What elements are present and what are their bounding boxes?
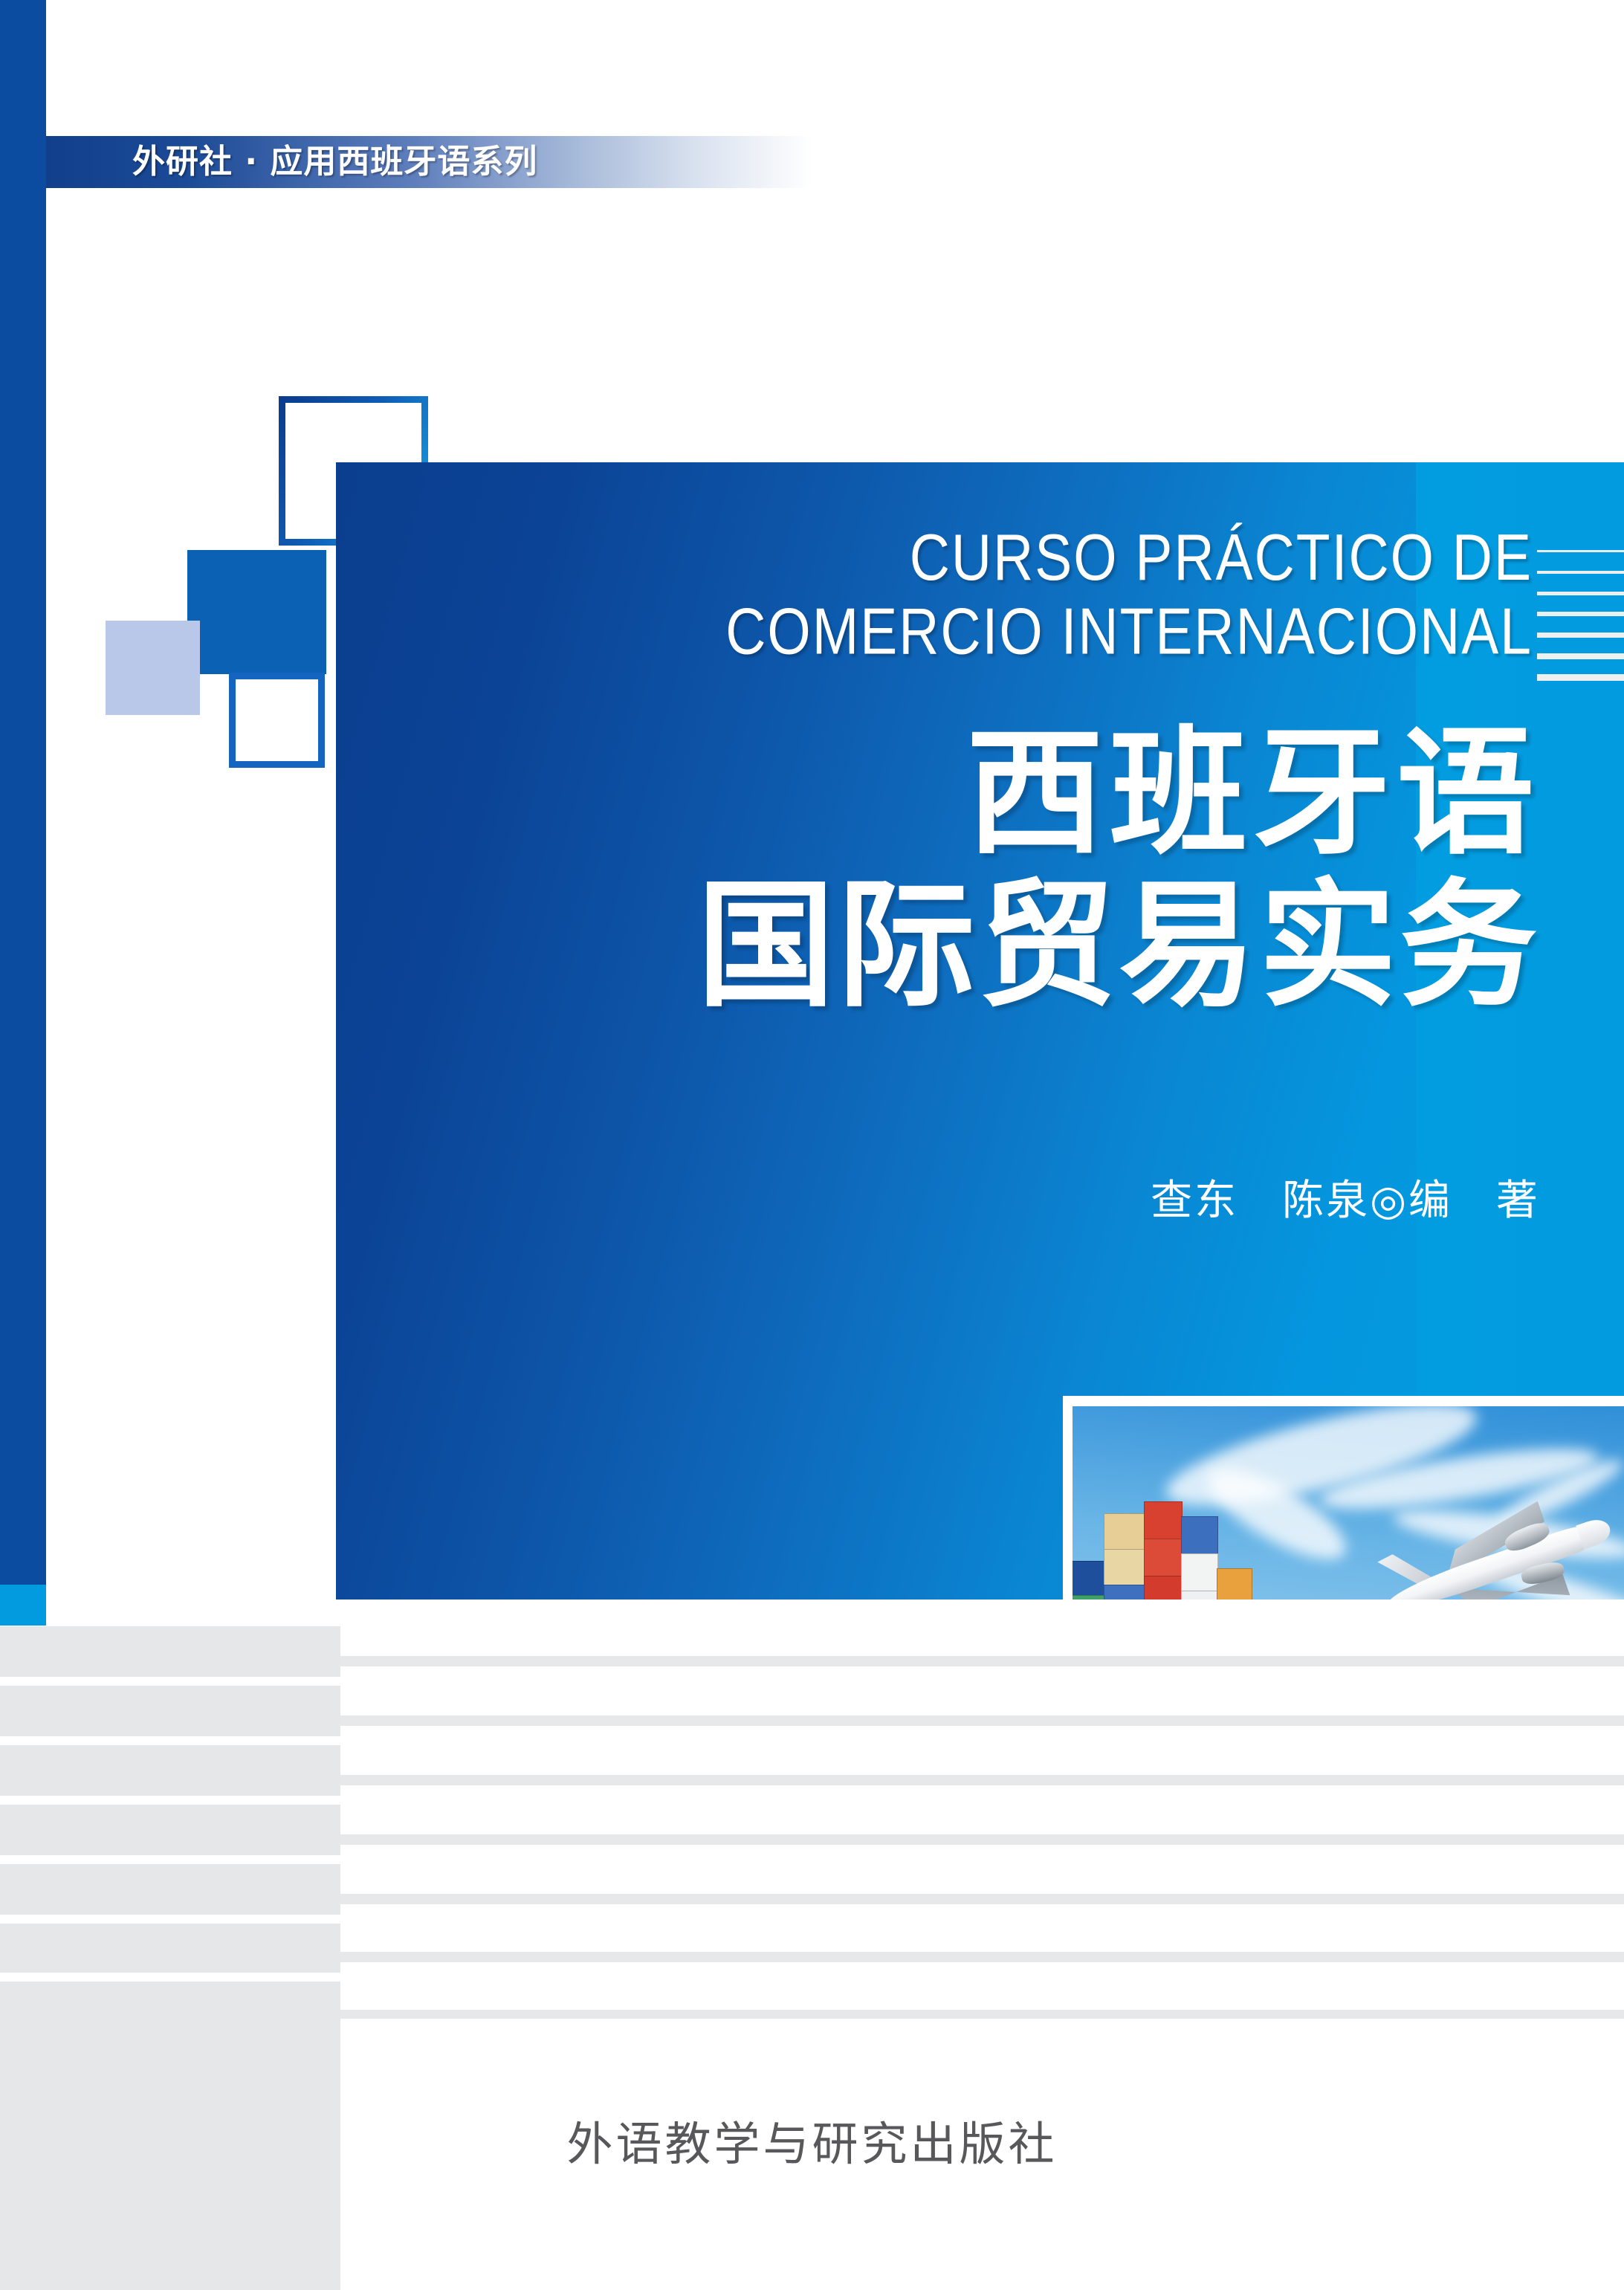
- chinese-title-line-1: 西班牙语: [336, 717, 1540, 870]
- container: [1144, 1501, 1183, 1540]
- light-gray-stripe: [340, 1656, 1624, 1666]
- stripe-line: [1537, 571, 1624, 574]
- light-gray-stripe: [340, 1834, 1624, 1845]
- container: [1104, 1513, 1145, 1550]
- decor-square-pale-small: [106, 621, 200, 715]
- book-cover: 外研社 · 应用西班牙语系列 CURSO PRÁCTICO DE COMERCI…: [0, 0, 1624, 2290]
- stripe-line: [1537, 633, 1624, 638]
- decor-stripe-lines: [1537, 550, 1624, 682]
- light-gray-stripe: [340, 1715, 1624, 1726]
- container: [1104, 1549, 1145, 1586]
- gray-separator-line: [0, 1796, 340, 1805]
- gray-separator-line: [0, 1915, 340, 1924]
- light-gray-stripe: [340, 1952, 1624, 1962]
- light-gray-stripe: [340, 1775, 1624, 1785]
- chinese-title-line-2: 国际贸易实务: [336, 870, 1540, 1022]
- container: [1073, 1561, 1105, 1597]
- gray-separator-line: [0, 1736, 340, 1745]
- gray-separator-line: [0, 1855, 340, 1864]
- publisher-name: 外语教学与研究出版社: [0, 2106, 1624, 2173]
- chinese-main-title: 西班牙语 国际贸易实务: [336, 717, 1540, 1022]
- spine-vertical-bar: [0, 0, 46, 1595]
- light-gray-stripe: [340, 2010, 1624, 2019]
- bottom-white-right-zone: [340, 1600, 1624, 2290]
- stripe-line: [1537, 653, 1624, 659]
- stripe-line: [1537, 592, 1624, 595]
- container: [1144, 1539, 1183, 1577]
- series-band-label: 外研社 · 应用西班牙语系列: [132, 138, 801, 186]
- decor-square-outline-small: [229, 673, 325, 768]
- spanish-title: CURSO PRÁCTICO DE COMERCIO INTERNACIONAL: [336, 520, 1533, 667]
- stripe-line: [1537, 550, 1624, 552]
- light-gray-stripe: [340, 1894, 1624, 1904]
- spanish-title-line-2: COMERCIO INTERNACIONAL: [336, 594, 1533, 667]
- container: [1181, 1516, 1218, 1555]
- decor-square-solid-medium: [187, 550, 326, 674]
- gray-separator-line: [0, 1677, 340, 1686]
- gray-separator-line: [0, 1973, 340, 1982]
- container: [1181, 1553, 1218, 1592]
- spine-cyan-cap: [0, 1585, 46, 1626]
- spanish-title-line-1: CURSO PRÁCTICO DE: [336, 520, 1533, 594]
- stripe-line: [1537, 674, 1624, 681]
- stripe-line: [1537, 612, 1624, 616]
- author-line: 查东 陈泉◎编 著: [336, 1167, 1540, 1227]
- bottom-gray-left-column: [0, 1626, 340, 2290]
